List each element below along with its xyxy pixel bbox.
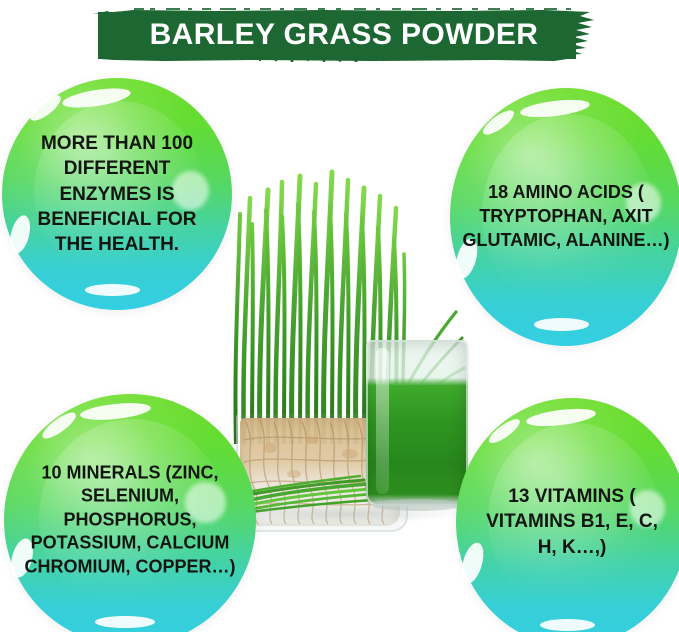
- infographic-poster: BARLEY GRASS POWDER: [0, 0, 679, 632]
- vitamins-bubble[interactable]: 13 VITAMINS ( VITAMINS B1, E, C, H, K…,): [456, 398, 679, 632]
- bubble-highlight-left: [7, 536, 37, 580]
- bubble-highlight-small: [27, 91, 65, 125]
- glass-highlight: [376, 348, 389, 494]
- bubble-highlight-left: [7, 213, 34, 256]
- vitamins-bubble-text: 13 VITAMINS ( VITAMINS B1, E, C, H, K…,): [475, 484, 670, 560]
- bubble-highlight-left: [458, 540, 487, 586]
- bubble-highlight-top: [79, 400, 151, 422]
- juice-glass: [366, 340, 468, 506]
- bubble-highlight-right: [626, 183, 661, 222]
- bubble-highlight-top: [61, 84, 132, 111]
- banner-speckle-texture: [74, 8, 614, 62]
- bubble-highlight-small: [480, 107, 518, 139]
- bubble-highlight-bottom: [534, 318, 590, 331]
- enzymes-bubble-text: MORE THAN 100 DIFFERENT ENZYMES IS BENEF…: [20, 131, 213, 257]
- bubble-highlight-bottom: [540, 619, 596, 631]
- enzymes-bubble[interactable]: MORE THAN 100 DIFFERENT ENZYMES IS BENEF…: [2, 78, 232, 310]
- bubble-highlight-small: [486, 416, 523, 448]
- minerals-bubble[interactable]: 10 MINERALS (ZINC, SELENIUM, PHOSPHORUS,…: [4, 394, 256, 632]
- bubble-highlight-right: [185, 482, 225, 522]
- bubble-highlight-right: [630, 490, 665, 527]
- bubble-highlight-right: [172, 171, 209, 210]
- bubble-highlight-bottom: [95, 616, 155, 629]
- amino-acids-bubble-text: 18 AMINO ACIDS ( TRYPTOPHAN, AXIT GLUTAM…: [459, 181, 672, 253]
- title-banner: BARLEY GRASS POWDER: [74, 8, 614, 62]
- surface-shadow: [232, 505, 462, 523]
- bubble-highlight-top: [525, 406, 596, 429]
- bubble-highlight-small: [39, 409, 79, 443]
- minerals-bubble-text: 10 MINERALS (ZINC, SELENIUM, PHOSPHORUS,…: [14, 462, 246, 579]
- product-photo: [222, 150, 470, 522]
- amino-acids-bubble[interactable]: 18 AMINO ACIDS ( TRYPTOPHAN, AXIT GLUTAM…: [450, 88, 679, 346]
- bubble-highlight-bottom: [85, 284, 140, 296]
- bubble-highlight-top: [519, 97, 590, 121]
